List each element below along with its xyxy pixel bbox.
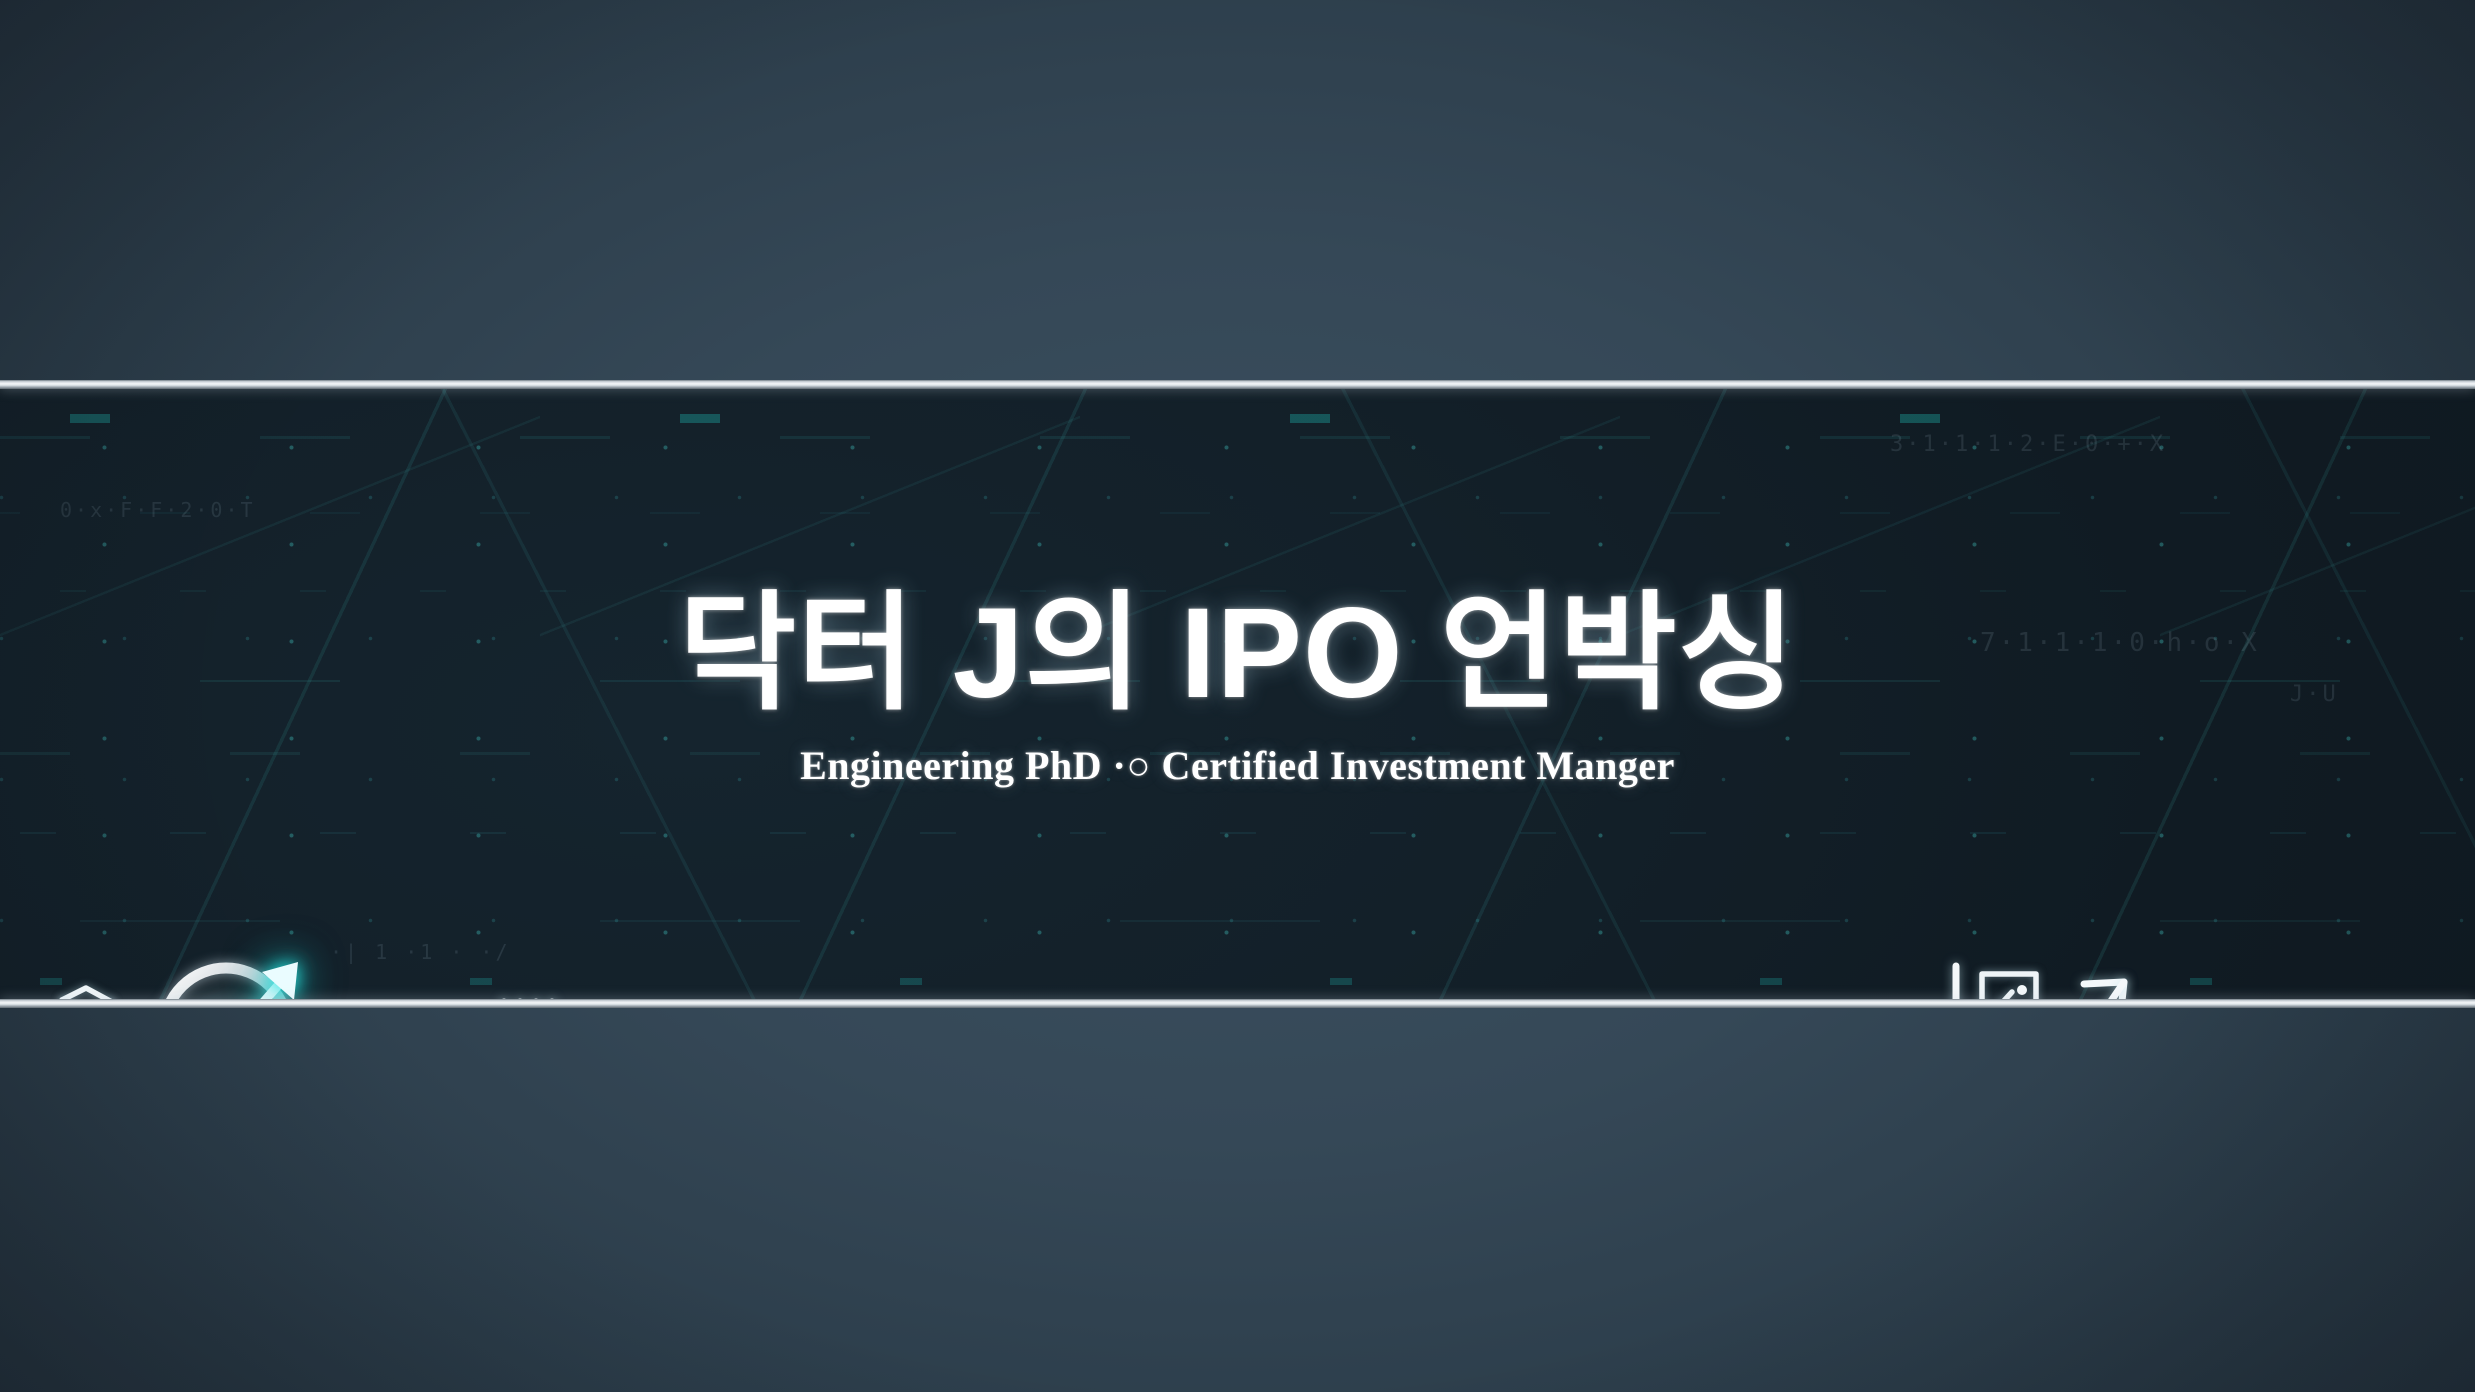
channel-banner: 7·1·1·1·0·h·o·X J·U 0·x·F·F·2·0·T ·| 1 ·… — [0, 380, 2475, 1008]
banner-bottom-rail — [0, 999, 2475, 1008]
banner-text-block: 닥터 J의 IPO 언박싱 Engineering PhD ·○ Certifi… — [0, 380, 2475, 1008]
page-title: 닥터 J의 IPO 언박싱 — [679, 587, 1797, 720]
page-subtitle: Engineering PhD ·○ Certified Investment … — [800, 742, 1675, 789]
banner-top-rail — [0, 380, 2475, 389]
page-root: 7·1·1·1·0·h·o·X J·U 0·x·F·F·2·0·T ·| 1 ·… — [0, 0, 2475, 1392]
